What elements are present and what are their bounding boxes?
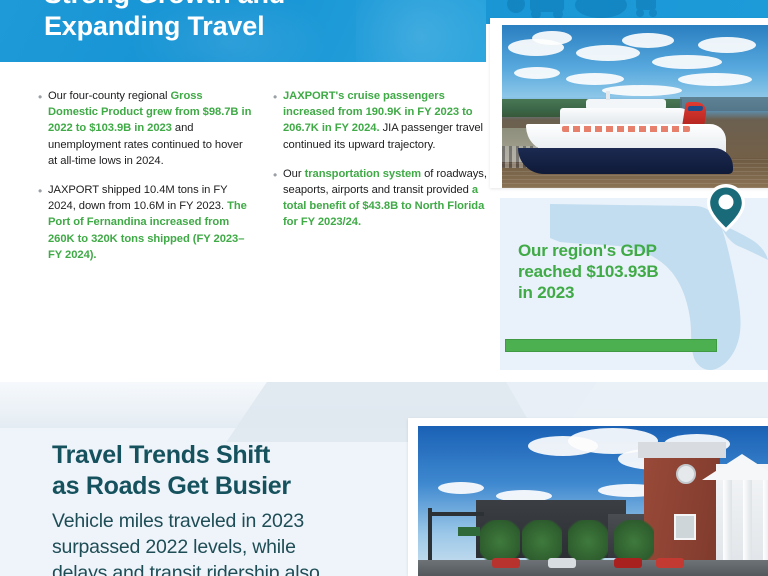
cruise-photo-card xyxy=(490,18,768,188)
map-pin-icon xyxy=(704,182,748,234)
gdp-progress-bar xyxy=(505,339,717,352)
car xyxy=(614,558,642,568)
bullet-segment-highlight: transportation system xyxy=(305,168,421,180)
top-section: Strong Growth and Expanding Travel • xyxy=(0,0,768,382)
portico-pediment xyxy=(702,454,768,480)
traffic-signal-pole xyxy=(428,508,432,562)
traffic-signal-arm xyxy=(428,512,484,516)
bullet-segment: JAXPORT shipped 10.4M tons in FY 2024, d… xyxy=(48,184,227,212)
bullet-columns: • Our four-county regional Gross Domesti… xyxy=(38,88,488,276)
bottom-body-line3: delays and transit ridership also xyxy=(52,560,402,576)
bullet-column-right: • JAXPORT's cruise passengers increased … xyxy=(273,88,488,276)
header-banner: Strong Growth and Expanding Travel xyxy=(0,0,486,62)
tower-window xyxy=(674,514,696,540)
car xyxy=(548,558,576,568)
gdp-callout-text: Our region's GDP reached $103.93B in 202… xyxy=(518,240,728,303)
page-title-line2: Expanding Travel xyxy=(44,10,464,42)
gdp-line-2: reached $103.93B xyxy=(518,261,728,282)
gdp-line-1: Our region's GDP xyxy=(518,240,728,261)
bullet-dot-icon: • xyxy=(273,166,283,231)
bullet-dot-icon: • xyxy=(38,88,48,169)
ship-funnel xyxy=(682,102,708,126)
street-surface xyxy=(418,560,768,576)
bottom-body-line1: Vehicle miles traveled in 2023 xyxy=(52,508,402,534)
bullet-dot-icon: • xyxy=(38,182,48,263)
list-item: • Our four-county regional Gross Domesti… xyxy=(38,88,253,169)
car xyxy=(656,558,684,568)
bullet-text: Our transportation system of roadways, s… xyxy=(283,166,488,231)
clock-icon xyxy=(676,464,696,484)
street-photo-card xyxy=(408,418,768,576)
bottom-title-line1: Travel Trends Shift xyxy=(52,440,392,471)
document-page: Strong Growth and Expanding Travel • xyxy=(0,0,768,576)
bullet-column-left: • Our four-county regional Gross Domesti… xyxy=(38,88,253,276)
lifeboats xyxy=(562,126,690,132)
ship-hull xyxy=(518,148,733,174)
gdp-line-3: in 2023 xyxy=(518,282,728,303)
bullet-text: JAXPORT's cruise passengers increased fr… xyxy=(283,88,488,153)
list-item: • JAXPORT shipped 10.4M tons in FY 2024,… xyxy=(38,182,253,263)
bottom-title-line2: as Roads Get Busier xyxy=(52,471,392,502)
page-title: Strong Growth and Expanding Travel xyxy=(44,0,464,42)
bottom-section-title: Travel Trends Shift as Roads Get Busier xyxy=(52,440,392,502)
streetscape-photo xyxy=(418,426,768,576)
page-title-line1: Strong Growth and xyxy=(44,0,464,10)
ship-mast xyxy=(606,91,610,100)
bullet-dot-icon: • xyxy=(273,88,283,153)
list-item: • JAXPORT's cruise passengers increased … xyxy=(273,88,488,153)
bottom-section-body: Vehicle miles traveled in 2023 surpassed… xyxy=(52,508,402,576)
car xyxy=(492,558,520,568)
bullet-text: Our four-county regional Gross Domestic … xyxy=(48,88,253,169)
bullet-segment: Our xyxy=(283,168,305,180)
bullet-text: JAXPORT shipped 10.4M tons in FY 2024, d… xyxy=(48,182,253,263)
cruise-ship-photo xyxy=(502,25,768,188)
list-item: • Our transportation system of roadways,… xyxy=(273,166,488,231)
street-sign xyxy=(458,527,480,536)
bullet-segment: Our four-county regional xyxy=(48,90,171,102)
bottom-body-line2: surpassed 2022 levels, while xyxy=(52,534,402,560)
